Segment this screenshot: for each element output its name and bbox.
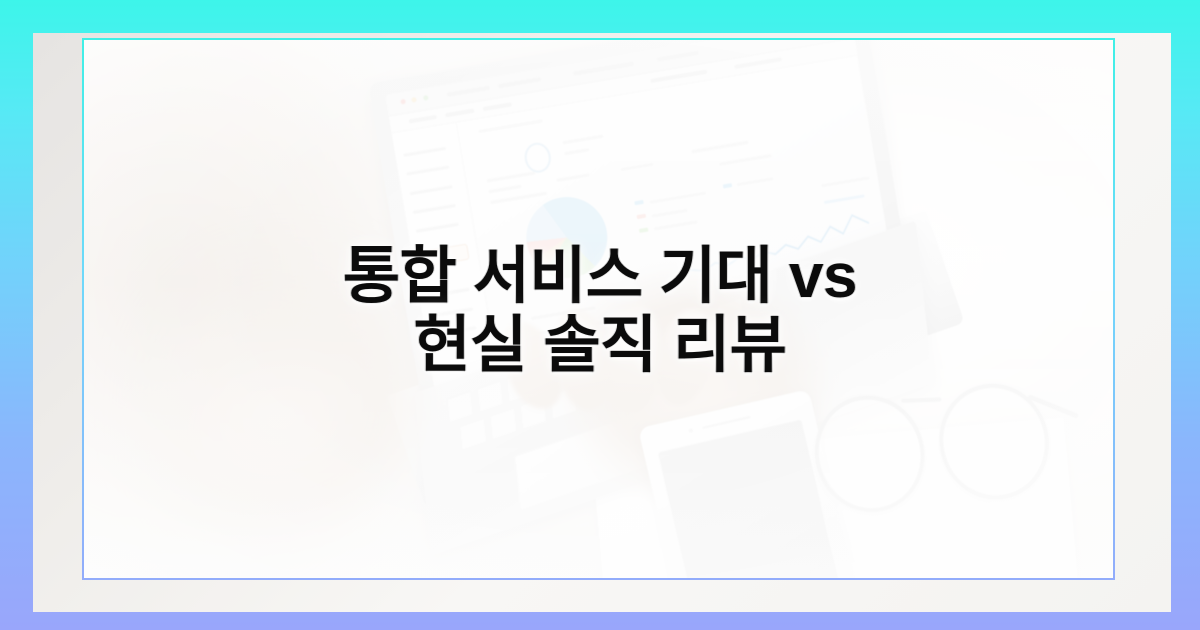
thumbnail-card: 통합 서비스 기대 vs 현실 솔직 리뷰 — [0, 0, 1200, 630]
inner-hairline-frame — [82, 38, 1115, 580]
